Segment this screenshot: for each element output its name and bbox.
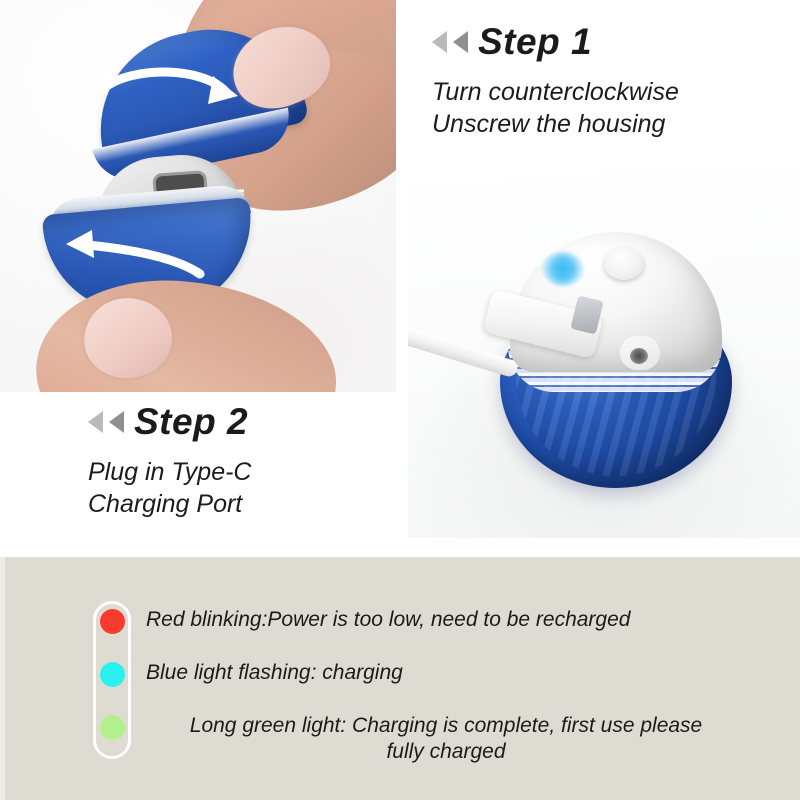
step-1-title: Step 1 <box>478 21 592 63</box>
step-2-title: Step 2 <box>134 401 248 443</box>
blue-led-indicator <box>542 252 584 286</box>
step-1-block: Step 1 Turn counterclockwise Unscrew the… <box>432 18 782 140</box>
blue-status-dot-cell <box>93 654 131 694</box>
left-triangle-icon-inner <box>109 411 124 433</box>
green-status-text: Long green light: Charging is complete, … <box>146 707 746 766</box>
photo-area: Step 1 Turn counterclockwise Unscrew the… <box>0 0 800 557</box>
step-2-block: Step 2 Plug in Type-C Charging Port <box>88 398 408 520</box>
green-status-dot-cell <box>93 707 131 747</box>
list-item: Long green light: Charging is complete, … <box>93 707 753 777</box>
green-status-dot <box>100 715 125 740</box>
step-2-heading: Step 2 <box>88 398 408 446</box>
power-button <box>604 248 644 280</box>
red-status-dot <box>100 609 125 634</box>
left-triangle-icon-outer <box>88 411 103 433</box>
list-item: Blue light flashing: charging <box>93 654 753 707</box>
step-2-description: Plug in Type-C Charging Port <box>88 456 408 520</box>
left-triangle-icon-outer <box>432 31 447 53</box>
rotation-arrow-counterclockwise-icon <box>56 228 206 288</box>
status-legend-list: Red blinking:Power is too low, need to b… <box>93 601 753 777</box>
red-status-text: Red blinking:Power is too low, need to b… <box>146 601 630 633</box>
rotation-arrow-clockwise-icon <box>98 62 248 122</box>
photo-ball-charging-cable <box>408 170 800 538</box>
screw-icon <box>630 348 648 364</box>
photo-hands-opening-ball <box>0 0 396 392</box>
infographic-page: Step 1 Turn counterclockwise Unscrew the… <box>0 0 800 800</box>
step-1-heading: Step 1 <box>432 18 782 66</box>
left-triangle-icon-inner <box>453 31 468 53</box>
status-legend-panel: Red blinking:Power is too low, need to b… <box>0 557 800 800</box>
blue-status-dot <box>100 662 125 687</box>
step-1-description: Turn counterclockwise Unscrew the housin… <box>432 76 782 140</box>
blue-status-text: Blue light flashing: charging <box>146 654 403 686</box>
red-status-dot-cell <box>93 601 131 641</box>
panel-left-edge <box>0 557 5 800</box>
list-item: Red blinking:Power is too low, need to b… <box>93 601 753 654</box>
